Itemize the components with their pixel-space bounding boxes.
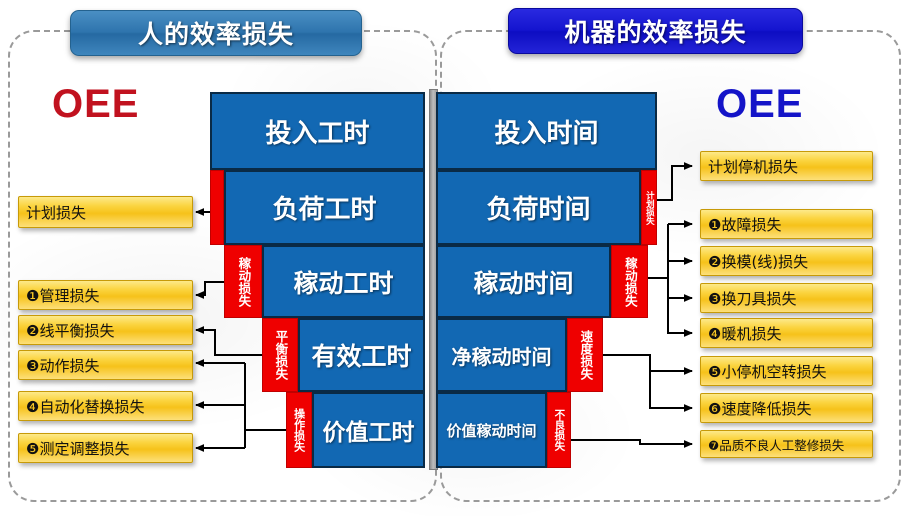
loss-box-right-7[interactable]: ❼品质不良人工整修损失 [700, 430, 873, 458]
block-left-row-1: 负荷工时 [224, 170, 425, 245]
loss-box-left-4[interactable]: ❹自动化替换损失 [18, 391, 193, 421]
loss-box-right-0[interactable]: 计划停机损失 [700, 151, 873, 181]
block-right-row-0: 投入时间 [436, 92, 657, 170]
block-left-row-2: 稼动工时 [262, 245, 425, 318]
oee-label-left: OEE [52, 82, 139, 127]
block-left-row-3: 有效工时 [298, 318, 425, 392]
lossbar-left-3: 操作损失 [286, 392, 312, 468]
oee-label-right: OEE [716, 82, 803, 127]
lossbar-right-2: 速度损失 [567, 318, 603, 392]
lossbar-right-1-label: 稼动损失 [623, 257, 636, 307]
loss-box-left-0[interactable]: 计划损失 [18, 196, 193, 228]
loss-box-left-5[interactable]: ❺测定调整损失 [18, 433, 193, 463]
panel-title-machine: 机器的效率损失 [508, 8, 803, 54]
block-right-row-3: 净稼动时间 [436, 318, 567, 392]
block-left-row-0: 投入工时 [210, 92, 425, 170]
lossbar-left-1-label: 稼动损失 [237, 257, 250, 307]
lossbar-left-0 [210, 170, 224, 245]
lossbar-left-3-label: 操作损失 [293, 408, 304, 452]
loss-box-right-5[interactable]: ❺小停机空转损失 [700, 356, 873, 386]
loss-box-right-6[interactable]: ❻速度降低损失 [700, 393, 873, 423]
loss-box-left-3[interactable]: ❸动作损失 [18, 350, 193, 380]
loss-box-right-4[interactable]: ❹暖机损失 [700, 318, 873, 348]
lossbar-right-3-label: 不良损失 [554, 409, 565, 451]
block-right-row-2: 稼动时间 [436, 245, 611, 318]
block-right-row-4: 价值稼动时间 [436, 392, 547, 468]
lossbar-right-0: 计划损失 [641, 170, 657, 245]
lossbar-left-2: 平衡损失 [262, 318, 298, 392]
lossbar-right-3: 不良损失 [547, 392, 571, 468]
loss-box-left-2[interactable]: ❷线平衡损失 [18, 315, 193, 345]
loss-box-left-1[interactable]: ❶管理损失 [18, 280, 193, 310]
panel-title-human: 人的效率损失 [70, 10, 362, 56]
loss-box-right-3[interactable]: ❸换刀具损失 [700, 283, 873, 313]
lossbar-right-1: 稼动损失 [611, 245, 648, 318]
lossbar-right-0-label: 计划损失 [645, 191, 654, 225]
loss-box-right-2[interactable]: ❷换模(线)损失 [700, 246, 873, 276]
block-right-row-1: 负荷时间 [436, 170, 641, 245]
lossbar-left-1: 稼动损失 [224, 245, 262, 318]
lossbar-left-2-label: 平衡损失 [274, 330, 287, 380]
lossbar-right-2-label: 速度损失 [579, 330, 592, 380]
block-left-row-4: 价值工时 [312, 392, 425, 468]
loss-box-right-1[interactable]: ❶故障损失 [700, 209, 873, 239]
